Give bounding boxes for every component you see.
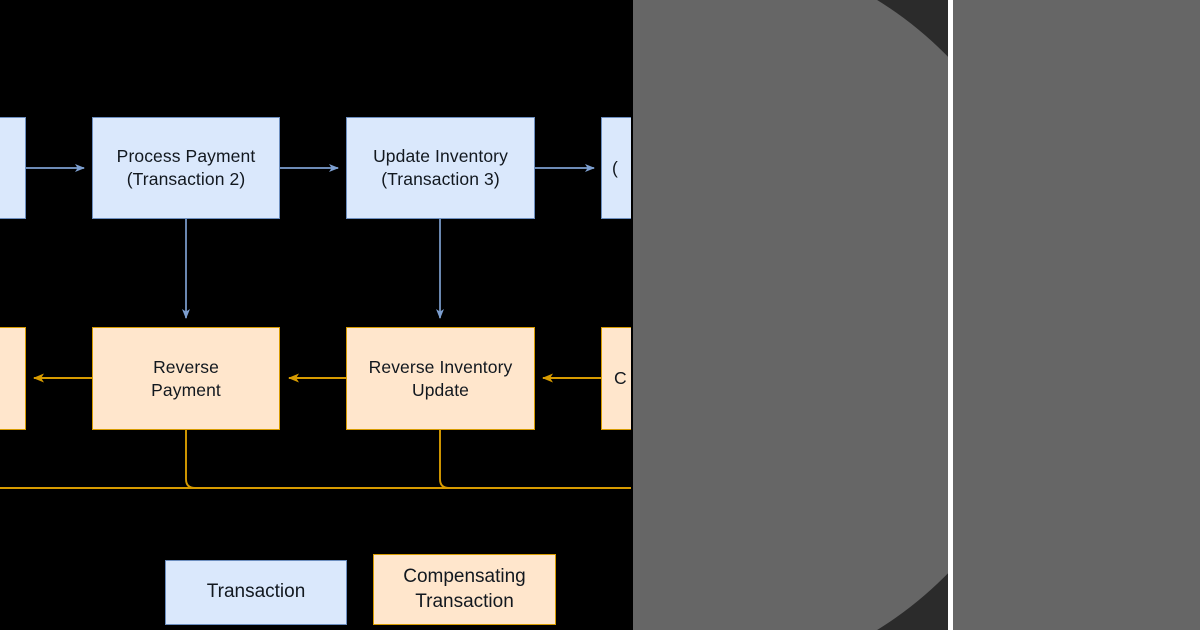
- node-compensation-1[interactable]: [0, 327, 26, 430]
- legend-label-transaction: Transaction: [207, 580, 306, 605]
- node-compensation-4[interactable]: C: [601, 327, 631, 430]
- node-label-line2: Payment: [151, 379, 221, 402]
- node-transaction-3[interactable]: Update Inventory (Transaction 3): [346, 117, 535, 219]
- legend-item-compensating-transaction[interactable]: Compensating Transaction: [373, 554, 556, 625]
- node-label-line1: Process Payment: [117, 145, 256, 168]
- image-panel-1: [633, 0, 948, 630]
- node-label-line2: Update: [412, 379, 469, 402]
- node-compensation-3[interactable]: Reverse Inventory Update: [346, 327, 535, 430]
- node-label-line1: Reverse Inventory: [369, 356, 513, 379]
- node-transaction-2[interactable]: Process Payment (Transaction 2): [92, 117, 280, 219]
- node-compensation-2[interactable]: Reverse Payment: [92, 327, 280, 430]
- gray-circle-shape-1: [633, 0, 948, 630]
- gray-circle-shape-2: [953, 0, 1200, 630]
- diagram-connectors: [0, 0, 631, 630]
- image-panel-2: [953, 0, 1200, 630]
- node-transaction-4[interactable]: (: [601, 117, 631, 219]
- node-label-line1: C: [614, 367, 627, 390]
- node-label-line2: (Transaction 3): [381, 168, 500, 191]
- node-label-line1: Update Inventory: [373, 145, 508, 168]
- node-transaction-1[interactable]: [0, 117, 26, 219]
- saga-diagram-panel: Process Payment (Transaction 2) Update I…: [0, 0, 631, 630]
- legend-item-transaction[interactable]: Transaction: [165, 560, 347, 625]
- legend-label-compensating-line1: Compensating: [403, 565, 526, 590]
- node-label-line2: (: [612, 157, 618, 180]
- screenshot-root: Process Payment (Transaction 2) Update I…: [0, 0, 1200, 630]
- legend-label-compensating-line2: Transaction: [415, 590, 514, 615]
- node-label-line1: Reverse: [153, 356, 219, 379]
- node-label-line2: (Transaction 2): [127, 168, 246, 191]
